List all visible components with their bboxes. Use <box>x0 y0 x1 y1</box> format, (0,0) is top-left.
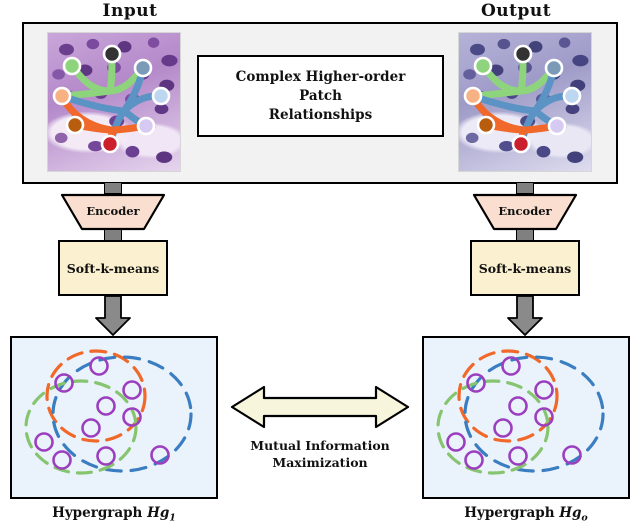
input-histology-patch <box>47 32 181 172</box>
caption-line-2: Patch <box>299 87 342 106</box>
output-title: Output <box>426 1 606 21</box>
caption-line-3: Relationships <box>269 106 372 125</box>
hyperedge-green <box>438 381 548 473</box>
node-lavender <box>138 118 154 134</box>
soft-k-means-right: Soft-k-means <box>470 240 580 296</box>
encoder-left: Encoder <box>60 193 166 231</box>
output-hypergraph-overlay <box>459 33 592 172</box>
hypergraph-right-label-prefix: Hypergraph <box>464 505 559 521</box>
hypergraph-vertex <box>124 382 141 399</box>
node-light-blue <box>153 88 169 104</box>
node-peach <box>54 88 70 104</box>
caption-line-1: Complex Higher-order <box>236 68 406 87</box>
node-steel-blue <box>546 60 562 76</box>
encoder-right: Encoder <box>472 193 578 231</box>
hypergraph-panel-right <box>422 336 630 499</box>
node-light-blue <box>564 88 580 104</box>
top-panel: Complex Higher-order Patch Relationships <box>22 22 618 184</box>
center-caption-box: Complex Higher-order Patch Relationships <box>197 55 444 137</box>
hypergraph-right-graphic <box>424 338 632 501</box>
node-steel-blue <box>135 60 151 76</box>
hyperedge-blue <box>53 357 191 471</box>
hypergraph-vertex <box>510 398 527 415</box>
mi-line-1: Mutual Information <box>228 437 412 454</box>
node-brown <box>478 117 494 133</box>
hypergraph-vertex <box>495 420 512 437</box>
node-peach <box>465 88 481 104</box>
mi-line-2: Maximization <box>228 454 412 471</box>
hypergraph-right-symbol: Hg <box>559 505 581 521</box>
hypergraph-left-graphic <box>12 338 220 501</box>
node-green <box>64 58 80 74</box>
node-red <box>513 136 529 152</box>
hyperedge-orange <box>47 351 145 441</box>
hypergraph-left-symbol: Hg <box>147 505 169 521</box>
output-histology-patch <box>458 32 592 172</box>
node-dark <box>515 46 531 62</box>
hypergraph-vertex <box>536 382 553 399</box>
hypergraph-panel-left <box>10 336 218 499</box>
hypergraph-left-label-prefix: Hypergraph <box>52 505 147 521</box>
node-green <box>475 58 491 74</box>
encoder-left-label: Encoder <box>60 204 166 218</box>
hypergraph-vertex <box>510 448 527 465</box>
soft-k-means-left-label: Soft-k-means <box>67 261 159 276</box>
hypergraph-vertex <box>54 452 71 469</box>
hyperedge-orange <box>459 351 557 441</box>
hyperedge-green <box>26 381 136 473</box>
node-lavender <box>549 118 565 134</box>
hypergraph-vertex <box>98 448 115 465</box>
node-red <box>102 136 118 152</box>
hypergraph-vertex <box>83 420 100 437</box>
hypergraph-left-label: Hypergraph Hg1 <box>10 505 218 524</box>
hypergraph-vertex <box>98 398 115 415</box>
input-title: Input <box>40 1 220 21</box>
hypergraph-vertex <box>36 434 53 451</box>
mutual-information-arrow <box>230 383 410 431</box>
arrow-cluster-to-hypergraph-right <box>506 296 544 336</box>
hypergraph-vertex <box>448 434 465 451</box>
mutual-information-text: Mutual Information Maximization <box>228 437 412 471</box>
encoder-right-label: Encoder <box>472 204 578 218</box>
arrow-cluster-to-hypergraph-left <box>94 296 132 336</box>
hypergraph-left-subscript: 1 <box>169 513 176 524</box>
hypergraph-right-label: Hypergraph Hgo <box>422 505 630 524</box>
soft-k-means-left: Soft-k-means <box>58 240 168 296</box>
node-brown <box>67 117 83 133</box>
hyperedge-blue <box>465 357 603 471</box>
node-dark <box>104 46 120 62</box>
soft-k-means-right-label: Soft-k-means <box>479 261 571 276</box>
hypergraph-vertex <box>466 452 483 469</box>
hypergraph-right-subscript: o <box>581 513 587 524</box>
input-hypergraph-overlay <box>48 33 181 172</box>
